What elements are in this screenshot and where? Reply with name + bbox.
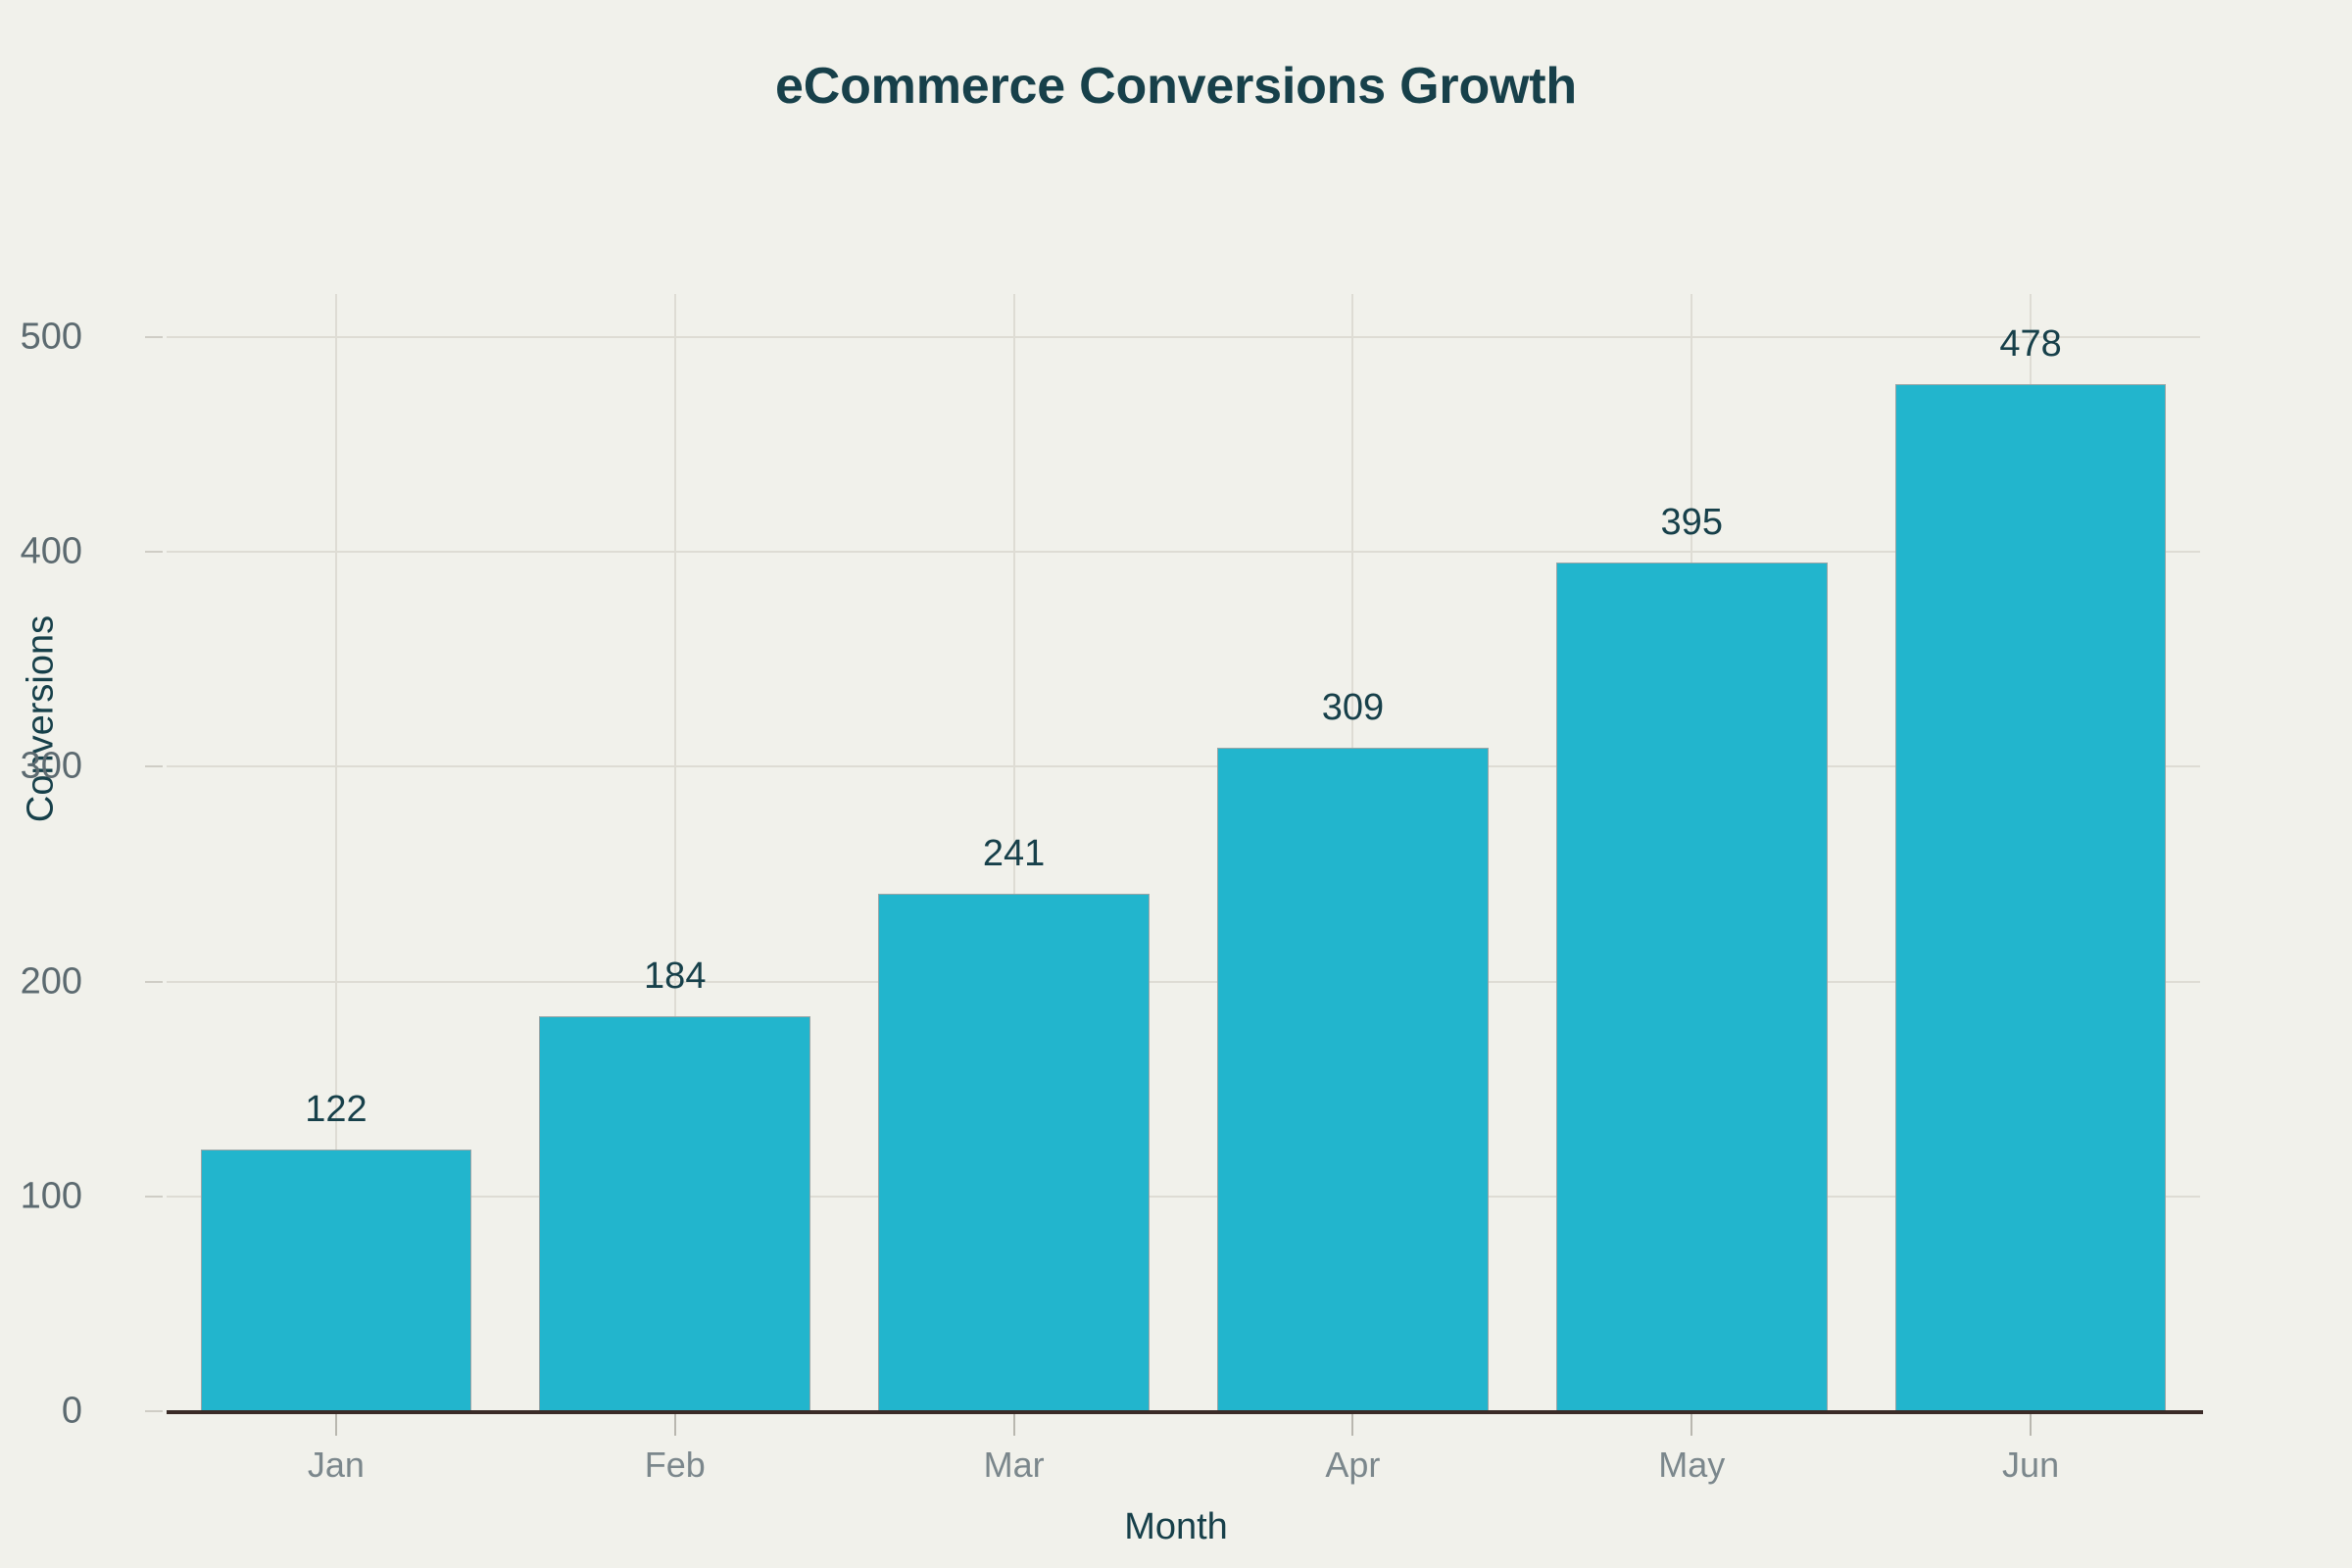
x-tick-label-mar: Mar: [867, 1445, 1161, 1486]
y-tick-mark: [145, 1410, 163, 1412]
bar-value-label-feb: 184: [528, 955, 822, 998]
y-tick-mark: [145, 1196, 163, 1198]
bar-feb[interactable]: [539, 1016, 810, 1411]
x-tick-label-apr: Apr: [1205, 1445, 1499, 1486]
plot-area: [167, 294, 2200, 1411]
bar-mar[interactable]: [878, 894, 1150, 1411]
bar-value-label-may: 395: [1544, 502, 1838, 544]
x-tick-mark: [2030, 1414, 2032, 1436]
y-tick-label: 100: [0, 1175, 82, 1217]
y-tick-mark: [145, 336, 163, 338]
y-tick-mark: [145, 981, 163, 983]
chart-title: eCommerce Conversions Growth: [0, 57, 2352, 116]
bar-jun[interactable]: [1895, 384, 2167, 1411]
y-tick-label: 0: [0, 1391, 82, 1433]
chart-figure: eCommerce Conversions Growth Conversions…: [0, 0, 2352, 1568]
x-tick-mark: [1013, 1414, 1015, 1436]
x-tick-mark: [335, 1414, 337, 1436]
x-tick-label-jan: Jan: [189, 1445, 483, 1486]
y-tick-label: 400: [0, 531, 82, 573]
bar-jan[interactable]: [201, 1150, 472, 1411]
x-tick-label-may: May: [1544, 1445, 1838, 1486]
y-tick-mark: [145, 765, 163, 767]
bar-apr[interactable]: [1217, 748, 1489, 1411]
x-tick-mark: [1351, 1414, 1353, 1436]
bar-may[interactable]: [1556, 563, 1828, 1411]
bar-value-label-apr: 309: [1205, 687, 1499, 729]
bar-value-label-jan: 122: [189, 1089, 483, 1131]
y-tick-label: 200: [0, 960, 82, 1003]
x-tick-label-jun: Jun: [1884, 1445, 2178, 1486]
x-axis-title: Month: [0, 1506, 2352, 1548]
x-tick-mark: [674, 1414, 676, 1436]
y-axis-title: Conversions: [21, 572, 63, 866]
y-tick-mark: [145, 551, 163, 553]
x-axis-line: [167, 1410, 2203, 1414]
x-tick-mark: [1690, 1414, 1692, 1436]
y-tick-label: 500: [0, 316, 82, 358]
bar-value-label-mar: 241: [867, 833, 1161, 875]
bar-value-label-jun: 478: [1884, 323, 2178, 366]
x-tick-label-feb: Feb: [528, 1445, 822, 1486]
y-tick-label: 300: [0, 746, 82, 788]
